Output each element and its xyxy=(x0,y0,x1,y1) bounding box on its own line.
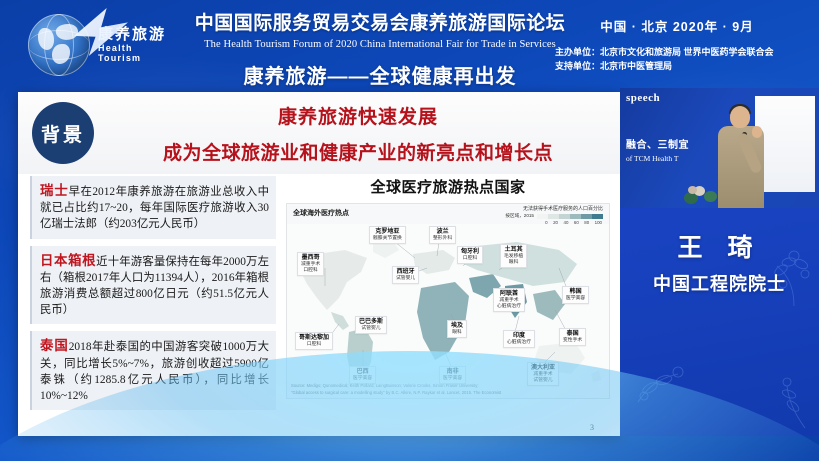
map-section-title: 全球医疗旅游热点国家 xyxy=(286,176,610,197)
slide-title: 康养旅游快速发展 成为全球旅游业和健康产业的新亮点和增长点 xyxy=(108,102,608,165)
fact-box-hakone-japan: 日本箱根近十年游客量保持在每年2000万左右（箱根2017年人口为11394人）… xyxy=(30,246,276,325)
map-label-specialty: 眼科 xyxy=(451,330,463,336)
legend-swatch-4 xyxy=(581,214,592,219)
fact-text: 2018年赴泰国的中国游客突破1000万大关，同比增长5%~7%，旅游创收超过5… xyxy=(40,341,269,402)
speaker-name: 王 琦 xyxy=(620,228,819,264)
fact-text: 早在2012年康养旅游在旅游业总收入中就已占比约17~20，每年国际医疗旅游收入… xyxy=(40,186,269,230)
map-card-header: 全球海外医疗热点 无法获得手术医疗服务的人口百分比 按区域，2015 xyxy=(287,204,609,224)
world-map-canvas: 墨西哥 减重手术 口腔科 克罗地亚 髋膝关节置换 波兰 整形外科 xyxy=(287,224,610,399)
slide-header: 背景 康养旅游快速发展 成为全球旅游业和健康产业的新亮点和增长点 xyxy=(18,92,620,174)
legend-scale-row: 按区域，2015 xyxy=(505,213,603,219)
section-badge: 背景 xyxy=(32,102,94,164)
event-organizers: 主办单位：北京市文化和旅游局 世界中医药学会联合会 支持单位：北京市中医管理局 xyxy=(551,46,803,74)
map-label-specialty: 口腔科 xyxy=(299,342,329,348)
map-label-specialty: 心脏病治疗 xyxy=(497,304,521,310)
legend-swatch-5 xyxy=(592,214,603,219)
map-label-specialty: 医学美容 xyxy=(566,296,585,302)
podium-flowers xyxy=(682,174,724,208)
fact-keyword: 瑞士 xyxy=(40,183,69,198)
map-card-heading: 全球海外医疗热点 xyxy=(293,208,349,218)
speaker-video-thumbnail[interactable]: speech 融合、三制宜 of TCM Health T xyxy=(620,88,819,208)
map-label-specialty: 试管婴儿 xyxy=(359,326,383,332)
map-label-brazil: 巴西 医学美容 xyxy=(349,366,376,384)
map-label-name: 埃及 xyxy=(451,323,463,331)
globe-landmass-americas xyxy=(38,28,54,50)
map-label-specialty: 整形外科 xyxy=(433,236,452,242)
map-column: 全球医疗旅游热点国家 全球海外医疗热点 无法获得手术医疗服务的人口百分比 按区域… xyxy=(286,176,610,399)
fact-keyword: 泰国 xyxy=(40,338,69,353)
map-label-poland: 波兰 整形外科 xyxy=(429,226,456,244)
presentation-slide: 背景 康养旅游快速发展 成为全球旅游业和健康产业的新亮点和增长点 瑞士早在201… xyxy=(18,92,620,436)
floral-decoration-icon xyxy=(626,340,696,410)
map-label-name: 土耳其 xyxy=(504,247,523,255)
map-label-india: 印度 心脏病治疗 xyxy=(503,330,535,348)
map-label-specialty: 心脏病治疗 xyxy=(507,340,531,346)
speaker-panel: speech 融合、三制宜 of TCM Health T 王 琦 中国 xyxy=(620,88,819,436)
slide-title-line-1: 康养旅游快速发展 xyxy=(108,102,608,129)
speaker-hand xyxy=(752,126,762,138)
banner-title-block: 中国国际服务贸易交易会康养旅游国际论坛 The Health Tourism F… xyxy=(180,8,580,104)
map-label-name: 墨西哥 xyxy=(301,255,320,263)
legend-swatch-0 xyxy=(537,214,548,219)
fact-box-thailand: 泰国2018年赴泰国的中国游客突破1000万大关，同比增长5%~7%，旅游创收超… xyxy=(30,331,276,410)
supporter-line: 支持单位：北京市中医管理局 xyxy=(555,60,803,74)
event-banner-header: 康养旅游 Health Tourism 中国国际服务贸易交易会康养旅游国际论坛 … xyxy=(0,0,819,88)
map-label-specialty: 口腔科 xyxy=(301,268,320,274)
video-overlay-text: speech 融合、三制宜 of TCM Health T xyxy=(626,92,689,163)
slide-body: 瑞士早在2012年康养旅游在旅游业总收入中就已占比约17~20，每年国际医疗旅游… xyxy=(18,174,620,436)
forum-theme-cn: 康养旅游——全球健康再出发 xyxy=(180,60,580,89)
event-location-date: 中国 · 北京 2020年 · 9月 xyxy=(551,16,803,35)
medical-tourism-map-card: 全球海外医疗热点 无法获得手术医疗服务的人口百分比 按区域，2015 xyxy=(286,203,610,399)
map-label-specialty: 眼科 xyxy=(504,260,523,266)
speaker-role: 中国工程院院士 xyxy=(620,270,819,296)
map-label-costa-rica: 哥斯达黎加 口腔科 xyxy=(295,332,333,350)
map-label-specialty: 医学美容 xyxy=(443,376,462,382)
map-label-turkey: 土耳其 毛发移植 眼科 xyxy=(500,244,527,268)
map-label-name: 克罗地亚 xyxy=(373,229,402,237)
globe-logo-icon xyxy=(28,14,90,76)
map-label-name: 巴西 xyxy=(353,369,372,377)
slide-page-number: 3 xyxy=(590,423,594,432)
map-label-korea: 韩国 医学美容 xyxy=(562,286,589,304)
floral-decoration-icon xyxy=(755,372,815,432)
video-overlay-en-top: speech xyxy=(626,92,689,104)
map-label-name: 韩国 xyxy=(566,289,585,297)
video-overlay-cn: 融合、三制宜 xyxy=(626,136,689,151)
map-label-south-africa: 南非 医学美容 xyxy=(439,366,466,384)
map-label-name: 泰国 xyxy=(563,331,582,339)
map-label-specialty: 髋膝关节置换 xyxy=(373,236,402,242)
speaker-head xyxy=(730,106,750,128)
speaker-identity: 王 琦 中国工程院院士 xyxy=(620,228,819,296)
screenshot-root: 康养旅游 Health Tourism 中国国际服务贸易交易会康养旅游国际论坛 … xyxy=(0,0,819,461)
forum-title-en: The Health Tourism Forum of 2020 China I… xyxy=(180,39,580,50)
slide-title-line-2: 成为全球旅游业和健康产业的新亮点和增长点 xyxy=(108,138,608,165)
fact-box-switzerland: 瑞士早在2012年康养旅游在旅游业总收入中就已占比约17~20，每年国际医疗旅游… xyxy=(30,176,276,239)
forum-title-cn: 中国国际服务贸易交易会康养旅游国际论坛 xyxy=(180,8,580,35)
map-label-name: 匈牙利 xyxy=(461,249,479,257)
map-label-name: 巴巴多斯 xyxy=(359,319,383,327)
map-label-specialty: 变性手术 xyxy=(563,338,582,344)
legend-swatch-2 xyxy=(559,214,570,219)
map-label-name: 澳大利亚 xyxy=(531,365,555,373)
fact-keyword: 日本箱根 xyxy=(40,253,96,268)
legend-swatches xyxy=(537,214,603,219)
map-source-note: Source: Medigo; Qunomedical; Keith Polla… xyxy=(291,383,605,396)
map-label-specialty: 试管婴儿 xyxy=(396,276,415,282)
map-label-croatia: 克罗地亚 髋膝关节置换 xyxy=(369,226,406,244)
legend-swatch-1 xyxy=(548,214,559,219)
map-label-name: 印度 xyxy=(507,333,531,341)
map-label-egypt: 埃及 眼科 xyxy=(447,320,467,338)
map-label-name: 波兰 xyxy=(433,229,452,237)
legend-sublabel: 按区域，2015 xyxy=(505,213,534,219)
legend-swatch-3 xyxy=(570,214,581,219)
map-legend: 无法获得手术医疗服务的人口百分比 按区域，2015 xyxy=(505,205,603,225)
map-label-name: 南非 xyxy=(443,369,462,377)
source-line-2: "Global access to surgical care: a model… xyxy=(291,390,605,396)
organizer-line: 主办单位：北京市文化和旅游局 世界中医药学会联合会 xyxy=(555,46,803,60)
legend-title: 无法获得手术医疗服务的人口百分比 xyxy=(505,205,603,212)
map-label-spain: 西班牙 试管婴儿 xyxy=(392,266,419,284)
map-label-name: 西班牙 xyxy=(396,269,415,277)
map-label-uae: 阿联酋 减重手术 心脏病治疗 xyxy=(493,288,525,312)
forum-logo: 康养旅游 Health Tourism xyxy=(28,6,168,84)
video-overlay-en-bottom: of TCM Health T xyxy=(626,154,689,163)
map-label-specialty: 口腔科 xyxy=(461,256,479,262)
map-label-mexico: 墨西哥 减重手术 口腔科 xyxy=(297,252,324,276)
map-label-barbados: 巴巴多斯 试管婴儿 xyxy=(355,316,387,334)
map-label-name: 阿联酋 xyxy=(497,291,521,299)
logo-label-en: Health Tourism xyxy=(98,44,168,63)
map-label-specialty: 医学美容 xyxy=(353,376,372,382)
map-label-hungary: 匈牙利 口腔科 xyxy=(457,246,483,264)
map-label-name: 哥斯达黎加 xyxy=(299,335,329,343)
banner-meta-block: 中国 · 北京 2020年 · 9月 主办单位：北京市文化和旅游局 世界中医药学… xyxy=(551,16,803,74)
facts-column: 瑞士早在2012年康养旅游在旅游业总收入中就已占比约17~20，每年国际医疗旅游… xyxy=(30,176,276,417)
map-label-thailand: 泰国 变性手术 xyxy=(559,328,586,346)
